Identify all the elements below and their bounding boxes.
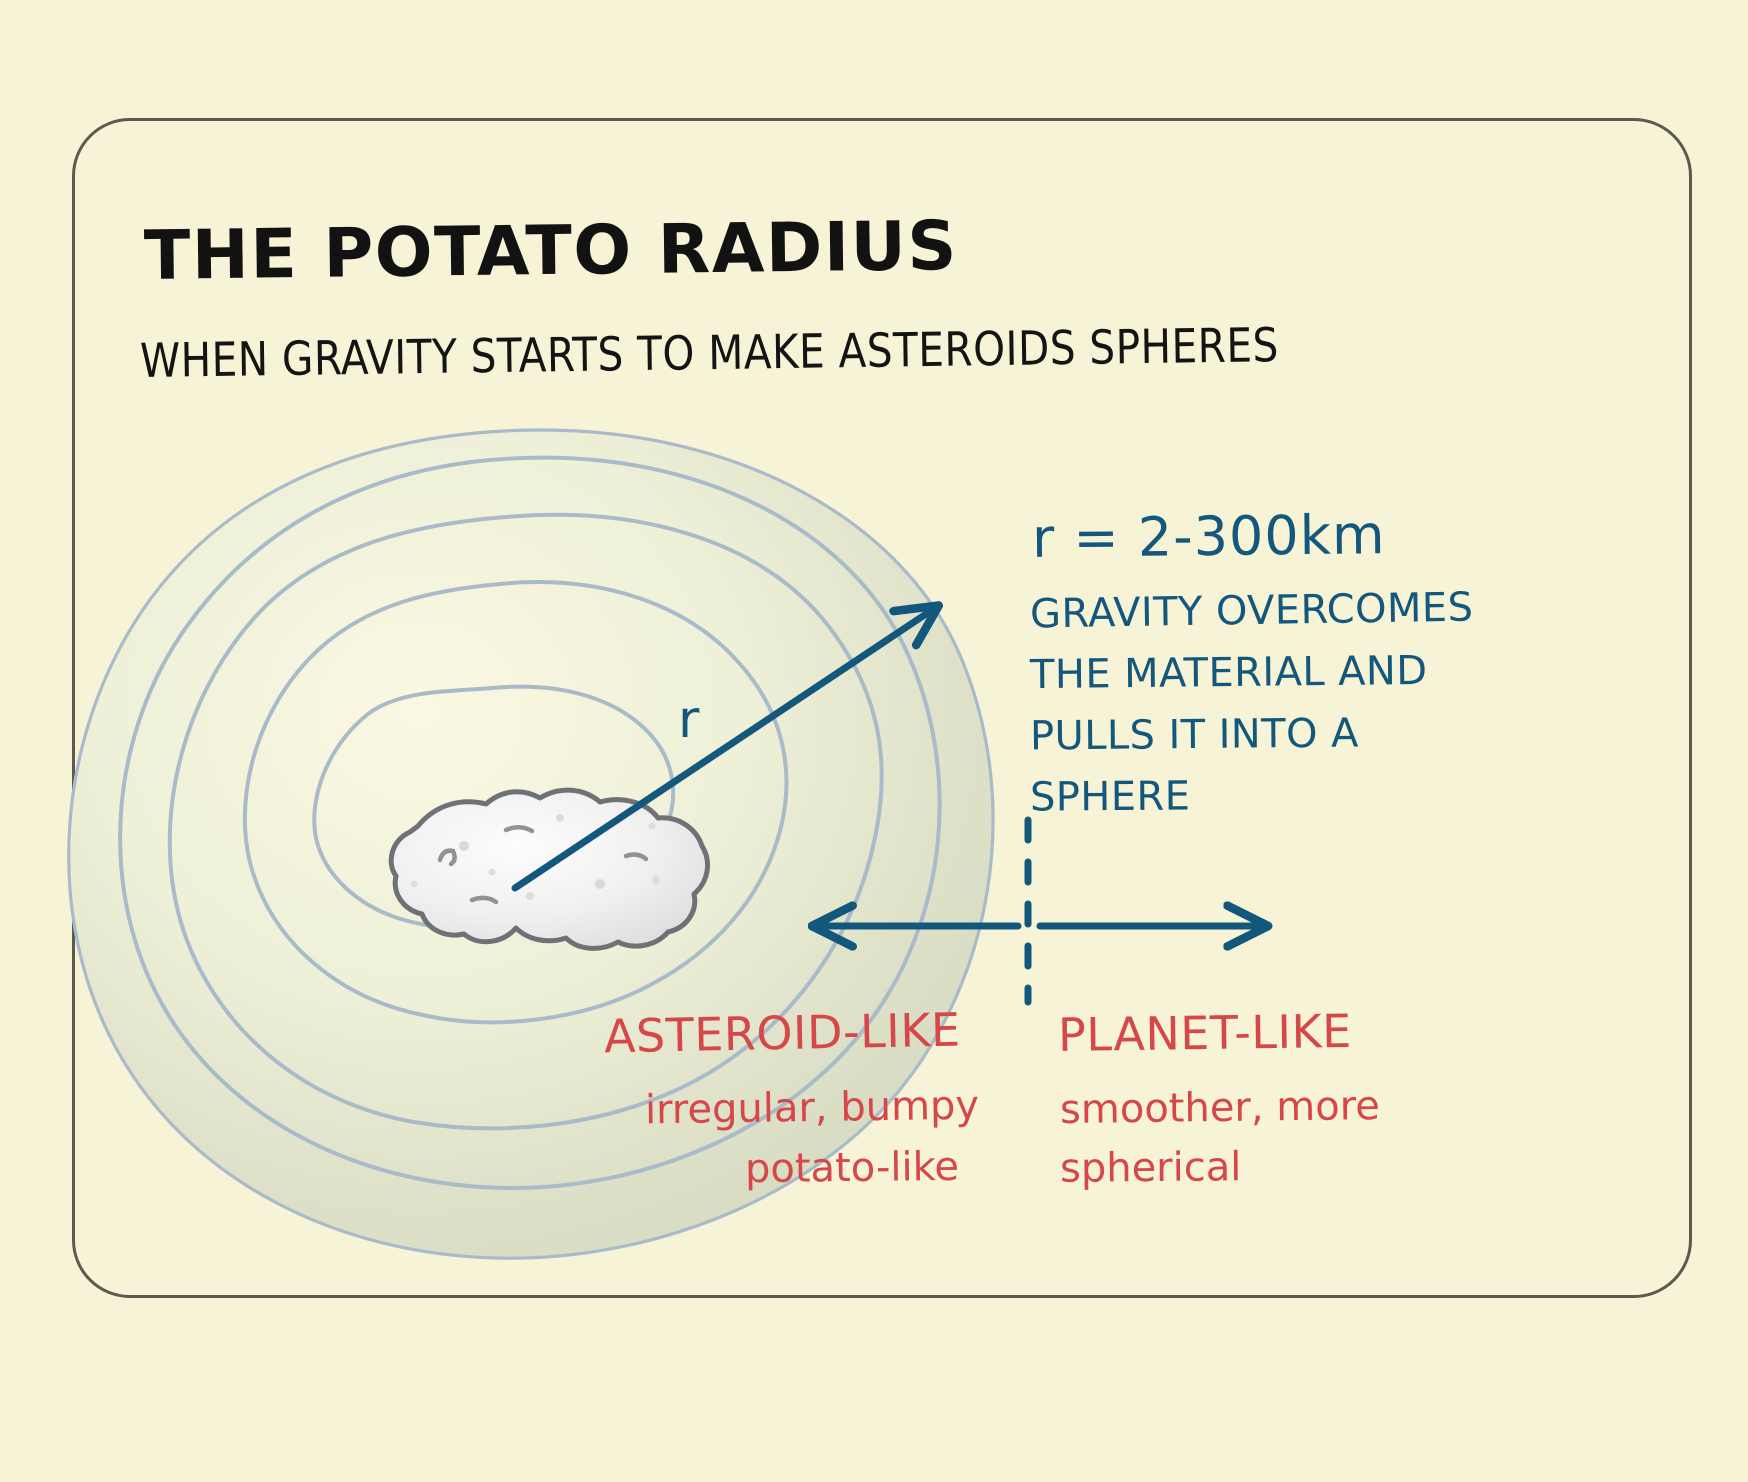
- radius-formula-label: r = 2-300km: [1032, 503, 1386, 570]
- planet-side-line-1: smoother, more: [1060, 1083, 1380, 1133]
- asteroid-side-heading: ASTEROID-LIKE: [604, 1003, 961, 1064]
- asteroid-side-line-1: irregular, bumpy: [645, 1083, 980, 1134]
- diagram-canvas: THE POTATO RADIUS WHEN GRAVITY STARTS TO…: [0, 0, 1748, 1482]
- gravity-note-line-3: PULLS IT INTO A: [1030, 711, 1359, 760]
- gravity-note-line-2: THE MATERIAL AND: [1030, 648, 1428, 698]
- gravity-note-line-4: SPHERE: [1030, 773, 1191, 820]
- radius-label: r: [678, 690, 699, 750]
- asteroid-side-line-2: potato-like: [745, 1144, 959, 1192]
- gravity-note-line-1: GRAVITY OVERCOMES: [1030, 585, 1474, 638]
- planet-side-heading: PLANET-LIKE: [1058, 1004, 1352, 1062]
- page-title: THE POTATO RADIUS: [144, 207, 959, 296]
- planet-side-line-2: spherical: [1060, 1144, 1242, 1192]
